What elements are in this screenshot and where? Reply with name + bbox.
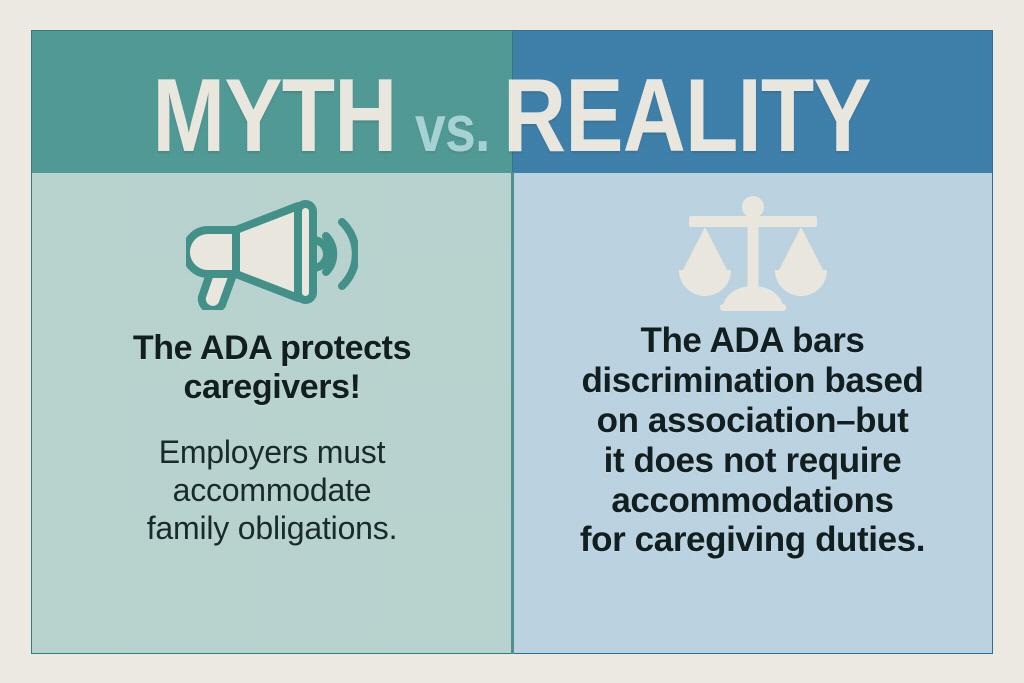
- myth-detail-line-2: accommodate: [147, 471, 398, 509]
- scales-of-justice-icon: [678, 195, 828, 313]
- reality-claim-line-5: accommodations: [580, 481, 925, 521]
- column-myth: The ADA protects caregivers! Employers m…: [31, 30, 512, 654]
- column-reality: The ADA bars discrimination based on ass…: [512, 30, 993, 654]
- column-divider: [511, 172, 514, 654]
- myth-claim-line-1: The ADA protects: [133, 329, 411, 368]
- myth-claim: The ADA protects caregivers!: [133, 329, 411, 407]
- reality-claim-line-3: on association–but: [580, 401, 925, 441]
- myth-detail-line-1: Employers must: [147, 433, 398, 471]
- infographic-panel: The ADA protects caregivers! Employers m…: [31, 30, 993, 654]
- myth-claim-line-2: caregivers!: [133, 368, 411, 407]
- body-panel-reality: The ADA bars discrimination based on ass…: [513, 173, 992, 653]
- reality-claim-line-1: The ADA bars: [580, 321, 925, 361]
- myth-detail: Employers must accommodate family obliga…: [147, 433, 398, 548]
- reality-claim-line-2: discrimination based: [580, 361, 925, 401]
- reality-claim: The ADA bars discrimination based on ass…: [580, 321, 925, 560]
- reality-claim-line-6: for caregiving duties.: [580, 520, 925, 560]
- myth-detail-line-3: family obligations.: [147, 509, 398, 547]
- reality-claim-line-4: it does not require: [580, 441, 925, 481]
- header-band-reality: [513, 31, 992, 173]
- header-band-myth: [32, 31, 512, 173]
- megaphone-icon: [186, 195, 358, 313]
- body-panel-myth: The ADA protects caregivers! Employers m…: [32, 173, 512, 653]
